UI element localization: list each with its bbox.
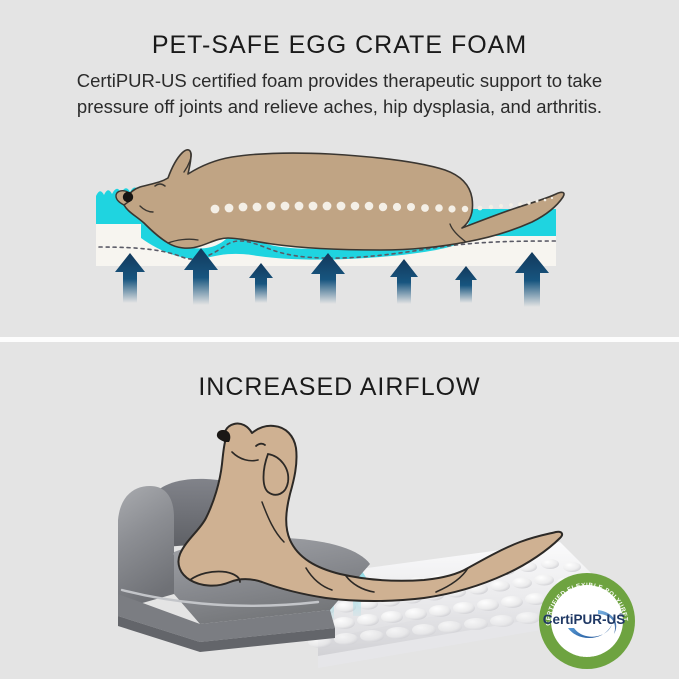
badge-registered-mark: ® (619, 612, 623, 619)
certipur-us-badge-graphic: CONTAINS CERTIFIED FLEXIBLE POLYURETHANE… (538, 572, 636, 670)
description-line-1: CertiPUR-US certified foam provides ther… (0, 68, 679, 94)
description-pet-safe-egg-crate-foam: CertiPUR-US certified foam provides ther… (0, 68, 679, 120)
dog-nose (123, 192, 133, 202)
description-line-2: pressure off joints and relieve aches, h… (0, 94, 679, 120)
page-title-increased-airflow: INCREASED AIRFLOW (0, 373, 679, 402)
page-title-pet-safe-egg-crate-foam: PET-SAFE EGG CRATE FOAM (0, 31, 679, 60)
support-arrow (455, 266, 477, 303)
section-pet-safe-egg-crate-foam: PET-SAFE EGG CRATE FOAM CertiPUR-US cert… (0, 0, 679, 337)
dog-figure (116, 150, 564, 250)
support-arrow (249, 263, 273, 303)
badge-brand-text: CertiPUR-US (543, 612, 626, 627)
